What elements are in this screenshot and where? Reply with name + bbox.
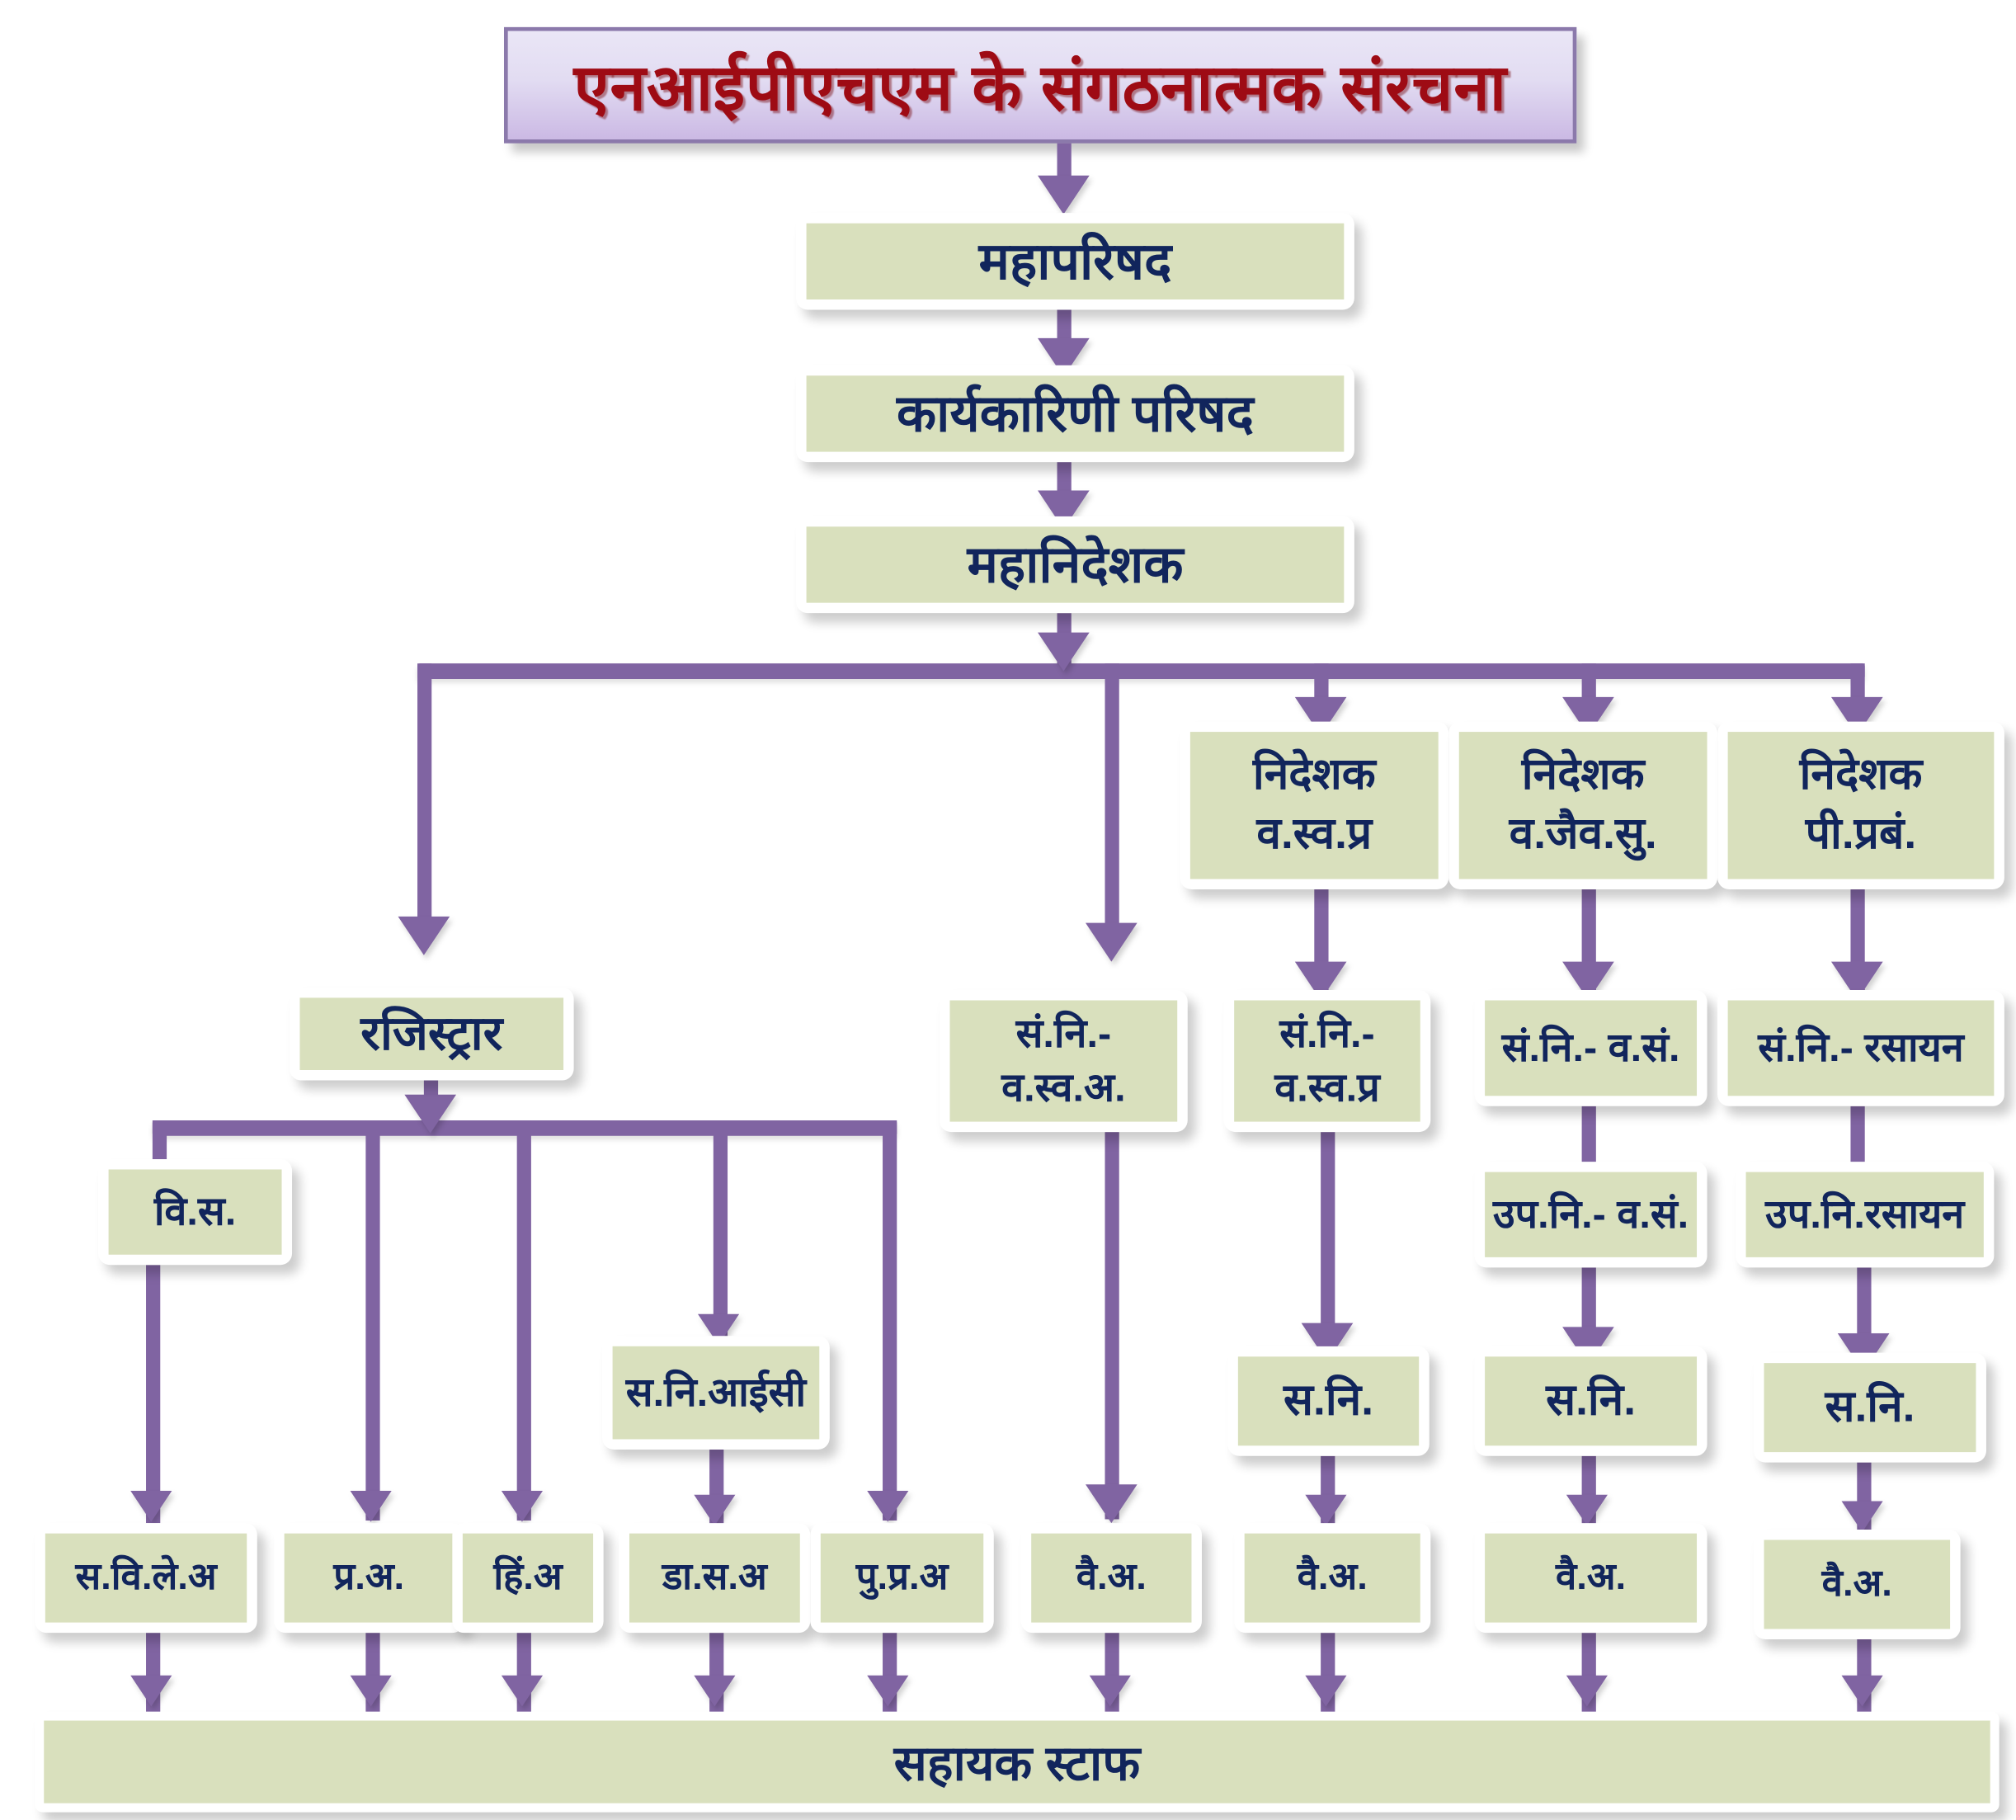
node-sani-2-label: स.नि. (1546, 1371, 1636, 1431)
node-vis-label: वि.स. (154, 1185, 236, 1238)
node-mahanideshak-inner: महानिदेशक (807, 526, 1345, 602)
node-savilea-label: स.वि.ले.अ (75, 1553, 216, 1603)
node-mahaparishad-inner: महापरिषद (807, 224, 1345, 299)
node-nideshak-vjaivsu[interactable]: निदेशक व.जैव.सु. (1448, 722, 1717, 889)
node-sani-2-inner: स.नि. (1485, 1356, 1697, 1445)
node-upni-rasayan-label: उप.नि.रसायन (1765, 1187, 1964, 1241)
node-vai-a-1[interactable]: वै.अ. (1021, 1523, 1202, 1633)
node-vai-a-2-label: वै.अ. (1298, 1553, 1368, 1603)
node-vai-a-4-label: वै.अ. (1822, 1559, 1892, 1610)
arrowhead-registrar-to-pupra-a (867, 1491, 908, 1522)
node-sahayak-staff-inner: सहायक स्टाफ (44, 1721, 1990, 1803)
arrowhead-vai-a-2-to-staff (1305, 1676, 1346, 1707)
node-hin-a-label: हिं.अ (493, 1553, 562, 1603)
node-sanni-rasayan[interactable]: सं.नि.- रसायन (1717, 990, 2004, 1106)
arrowhead-hin-a-to-staff (502, 1676, 543, 1707)
node-pupra-a-inner: पु.प्र.अ (821, 1534, 983, 1623)
node-vai-a-1-inner: वै.अ. (1031, 1534, 1191, 1623)
node-vai-a-4[interactable]: वै.अ. (1754, 1530, 1961, 1639)
arrowhead-registrar-to-pra-a (351, 1491, 392, 1522)
arrowhead-sanni-vsva-to-vai-a-1 (1086, 1484, 1138, 1523)
connector-registrar-to-sani-ici (714, 1120, 728, 1346)
node-nideshak-vsvp[interactable]: निदेशक व.स्व.प्र (1180, 722, 1448, 889)
node-sanni-vsva[interactable]: सं.नि.- व.स्व.अ. (940, 990, 1188, 1132)
node-vai-a-3[interactable]: वै.अ. (1475, 1523, 1707, 1633)
node-karyakarini-parishad-inner: कार्यकारिणी परिषद (807, 375, 1345, 451)
node-vai-a-4-inner: वै.अ. (1764, 1539, 1951, 1629)
node-karyakarini-parishad-label: कार्यकारिणी परिषद (897, 379, 1254, 448)
node-sanni-rasayan-label: सं.नि.- रसायन (1758, 1021, 1963, 1075)
arrowhead-pupra-a-to-staff (867, 1676, 908, 1707)
node-sanni-rasayan-inner: सं.नि.- रसायन (1728, 1001, 1995, 1096)
node-pra-a-label: प्र.अ. (333, 1553, 404, 1603)
node-mahanideshak-label: महानिदेशक (967, 530, 1183, 599)
node-sanni-vsvp-inner: सं.नि.- व.स्व.प्र (1234, 1001, 1420, 1122)
node-sani-3[interactable]: स.नि. (1754, 1353, 1986, 1463)
node-pupra-a-label: पु.प्र.अ (856, 1553, 949, 1603)
node-registrar-inner: रजिस्ट्रार (299, 997, 563, 1070)
node-savilea[interactable]: स.वि.ले.अ (35, 1523, 257, 1633)
node-sanni-vsan[interactable]: सं.नि.- व.सं. (1475, 990, 1707, 1106)
node-savilea-inner: स.वि.ले.अ (45, 1534, 247, 1623)
node-sanni-vsva-inner: सं.नि.- व.स्व.अ. (950, 1001, 1178, 1122)
connector-sanni-vsva-to-vai-a-1 (1105, 1132, 1119, 1519)
node-karyakarini-parishad[interactable]: कार्यकारिणी परिषद (796, 365, 1354, 462)
arrowhead-title-to-mahaparishad (1038, 176, 1090, 215)
node-sani-ici-inner: स.नि.आईसी (613, 1346, 820, 1440)
arrowhead-sani-ici-to-dasa-a (694, 1495, 735, 1526)
node-vis[interactable]: वि.स. (98, 1159, 292, 1265)
connector-dg-to-registrar (417, 663, 431, 935)
node-hin-a[interactable]: हिं.अ (452, 1523, 603, 1633)
node-nideshak-piprabam[interactable]: निदेशक पी.प्रबं. (1717, 722, 2004, 889)
arrowhead-vis-to-savilea (130, 1491, 172, 1522)
node-sahayak-staff-label: सहायक स्टाफ (894, 1728, 1141, 1795)
node-sanni-vsvp-label: सं.नि.- व.स्व.प्र (1274, 1007, 1380, 1115)
node-upni-rasayan-inner: उप.नि.रसायन (1746, 1172, 1984, 1257)
arrowhead-vai-a-4-to-staff (1842, 1676, 1883, 1707)
node-vis-inner: वि.स. (109, 1169, 282, 1254)
arrowhead-vai-a-1-to-staff (1090, 1676, 1131, 1707)
arrowhead-dg-to-registrar (398, 917, 450, 955)
node-nideshak-vsvp-inner: निदेशक व.स्व.प्र (1190, 732, 1439, 879)
node-vai-a-2[interactable]: वै.अ. (1234, 1523, 1430, 1633)
node-vai-a-2-inner: वै.अ. (1245, 1534, 1420, 1623)
node-sani-ici-label: स.नि.आईसी (626, 1365, 806, 1419)
connector-registrar-to-pra-a (365, 1120, 379, 1521)
node-pupra-a[interactable]: पु.प्र.अ (810, 1523, 993, 1633)
node-sani-1-inner: स.नि. (1238, 1356, 1419, 1445)
node-vai-a-3-label: वै.अ. (1556, 1553, 1626, 1603)
chart-title-box: एनआईपीएचएम के संगठनात्मक संरचना (504, 27, 1576, 144)
node-upni-rasayan[interactable]: उप.नि.रसायन (1736, 1162, 1994, 1267)
node-sanni-vsan-label: सं.नि.- व.सं. (1502, 1021, 1680, 1075)
arrowhead-dg-to-bus (1038, 633, 1090, 672)
node-pra-a[interactable]: प्र.अ. (274, 1523, 464, 1633)
node-nideshak-vsvp-label: निदेशक व.स्व.प्र (1253, 746, 1376, 865)
node-sanni-vsan-inner: सं.नि.- व.सं. (1485, 1001, 1697, 1096)
node-dasa-a-inner: डा.स.अ (629, 1534, 800, 1623)
node-pra-a-inner: प्र.अ. (285, 1534, 454, 1623)
arrowhead-sani-1-to-vai-a-2 (1305, 1495, 1346, 1526)
arrowhead-registrar-to-hin-a (502, 1491, 543, 1522)
arrowhead-pra-a-to-staff (351, 1676, 392, 1707)
node-registrar-label: रजिस्ट्रार (360, 1002, 502, 1066)
arrowhead-dg-to-sanni-vsva (1086, 923, 1138, 962)
arrowhead-sani-3-to-vai-a-4 (1842, 1502, 1883, 1533)
node-sani-3-label: स.नि. (1825, 1378, 1915, 1437)
node-mahaparishad[interactable]: महापरिषद (796, 213, 1354, 309)
node-sani-ici[interactable]: स.नि.आईसी (602, 1336, 830, 1450)
arrowhead-sani-2-to-vai-a-3 (1566, 1495, 1608, 1526)
node-sanni-vsvp[interactable]: सं.नि.- व.स्व.प्र (1224, 990, 1431, 1132)
node-mahanideshak[interactable]: महानिदेशक (796, 516, 1354, 613)
arrowhead-savilea-to-staff (130, 1676, 172, 1707)
node-sahayak-staff[interactable]: सहायक स्टाफ (35, 1712, 1999, 1813)
arrowhead-registrar-to-bus (404, 1095, 456, 1134)
node-sani-1[interactable]: स.नि. (1227, 1346, 1429, 1456)
node-nideshak-piprabam-inner: निदेशक पी.प्रबं. (1728, 732, 1995, 879)
node-sani-3-inner: स.नि. (1764, 1363, 1976, 1452)
node-sani-1-label: स.नि. (1284, 1371, 1373, 1431)
connector-registrar-to-hin-a (517, 1120, 531, 1521)
node-vai-a-3-inner: वै.अ. (1485, 1534, 1697, 1623)
node-sani-2[interactable]: स.नि. (1475, 1346, 1707, 1456)
node-registrar[interactable]: रजिस्ट्रार (290, 988, 574, 1081)
arrowhead-dasa-a-to-staff (694, 1676, 735, 1707)
node-dasa-a-label: डा.स.अ (662, 1553, 767, 1603)
connector-vis-to-savilea (146, 1265, 160, 1523)
node-upni-vsan-inner: उप.नि.- व.सं. (1485, 1172, 1697, 1257)
org-chart-canvas: एनआईपीएचएम के संगठनात्मक संरचना महापरिषद… (0, 0, 2016, 1820)
node-nideshak-vjaivsu-label: निदेशक व.जैव.सु. (1510, 746, 1657, 865)
node-nideshak-vjaivsu-inner: निदेशक व.जैव.सु. (1459, 732, 1707, 879)
node-sanni-vsva-label: सं.नि.- व.स्व.अ. (1001, 1007, 1125, 1115)
node-hin-a-inner: हिं.अ (463, 1534, 593, 1623)
node-upni-vsan-label: उप.नि.- व.सं. (1493, 1187, 1689, 1241)
node-mahaparishad-label: महापरिषद (978, 227, 1171, 296)
distribution-bus-dg (417, 663, 1865, 679)
connector-dg-to-sanni-vsva (1105, 663, 1119, 941)
node-vai-a-1-label: वै.अ. (1076, 1553, 1147, 1603)
node-dasa-a[interactable]: डा.स.अ (619, 1523, 810, 1633)
node-nideshak-piprabam-label: निदेशक पी.प्रबं. (1800, 746, 1923, 865)
arrowhead-vai-a-3-to-staff (1566, 1676, 1608, 1707)
page-title: एनआईपीएचएम के संगठनात्मक संरचना (573, 41, 1506, 129)
node-upni-vsan[interactable]: उप.नि.- व.सं. (1475, 1162, 1707, 1267)
connector-registrar-to-pupra-a (883, 1120, 897, 1521)
